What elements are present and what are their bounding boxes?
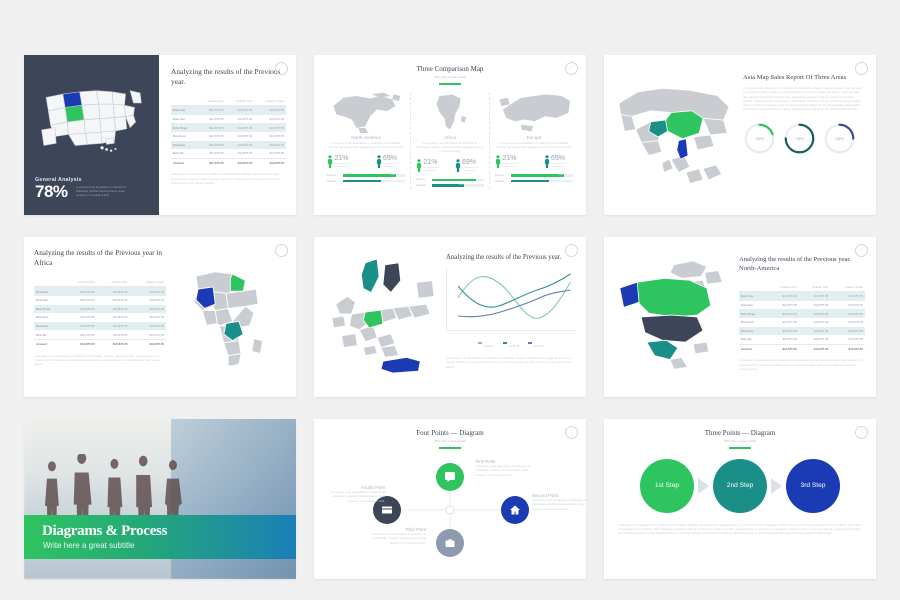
comparison-text: A company is an association or collectio… [327, 142, 405, 151]
table-row: Row One$10,875.55$10,875.55$10,875.55 [171, 106, 286, 115]
africa-map-panel [166, 249, 286, 385]
table-header-row: Column OneColumn TwoColumn Three [34, 277, 166, 287]
slide-5-europe-analysis[interactable]: Analyzing the results of the Previous ye… [314, 237, 586, 397]
point-caption-fourth: Fourth Point A company is an association… [327, 485, 385, 504]
comparison-bars: Result A85% Result B62% [495, 174, 573, 183]
asia-map-panel [612, 65, 737, 205]
slide-3-asia-sales-report[interactable]: Asia Map Sales Report Of Three Areas A c… [604, 55, 876, 215]
slide-4-content: Analyzing the results of the Previous ye… [34, 249, 166, 385]
comparison-columns: North-America A company is an associatio… [322, 92, 578, 190]
person-icon-teal [455, 159, 461, 172]
china-highlight [666, 111, 703, 139]
point-node-third[interactable] [436, 529, 464, 557]
slide-6-footnote: A company is an association or collectio… [739, 359, 865, 372]
table-cell: $10,875.55 [130, 322, 166, 331]
libya-highlight [230, 274, 245, 291]
slide-8-four-points-diagram[interactable]: Four Points — Diagram Write here a great… [314, 419, 586, 579]
slide-badge-icon[interactable]: ◌ [855, 426, 868, 439]
norway-highlight [361, 259, 379, 292]
table-total-cell: $10,875.55 [830, 344, 865, 353]
table-col-header: Column One [767, 282, 799, 292]
comparison-stats: 21% A company is an association of 69% A… [416, 159, 484, 173]
africa-map-icon [430, 91, 470, 133]
table-row-label: Row One [171, 106, 197, 115]
table-cell: $10,875.55 [767, 327, 799, 336]
slide-1-footnote: A company is an association or collectio… [171, 173, 286, 186]
stat-b: 69% A company is an association of [376, 155, 406, 169]
finland-highlight [383, 263, 401, 293]
comparison-stats: 21% A company is an association of 69% A… [495, 155, 573, 169]
table-cell: $10,875.55 [830, 335, 865, 344]
title-underline [439, 447, 461, 449]
table-total-cell: $10,875.55 [799, 344, 830, 353]
legend-swatch-b [503, 342, 507, 344]
bar-fill: 62% [432, 184, 464, 187]
table-total-cell: $10,875.55 [97, 339, 130, 348]
table-total-cell: $10,875.55 [254, 158, 286, 167]
line-chart-svg [447, 268, 576, 330]
slide-4-footnote: A company is an association or collectio… [34, 355, 166, 368]
table-row: Row Five$10,875.55$10,875.55$10,875.55 [739, 327, 865, 336]
stat-b-caption: A company is an association of [383, 163, 405, 169]
point-title: Fourth Point [327, 485, 385, 490]
bar-value: 85% [391, 174, 395, 176]
point-text: A company is an association or collectio… [476, 465, 534, 478]
comparison-column-africa[interactable]: Africa A company is an association or co… [410, 92, 489, 190]
point-caption-first: First Point A company is an association … [476, 459, 534, 478]
donut-chart-2: 75% [783, 122, 816, 155]
bar-row: Result A85% [495, 174, 573, 177]
table-col-corner [739, 282, 767, 292]
comparison-bars: Result A85% Result B62% [416, 178, 484, 187]
table-row-label: Row Five [739, 327, 767, 336]
table-row: Row Three$10,875.55$10,875.55$10,875.55 [739, 309, 865, 318]
series-c-line [458, 290, 570, 317]
usa-highlight [641, 315, 703, 342]
slide-8-title: Four Points — Diagram [322, 429, 578, 437]
table-cell: $10,875.55 [64, 296, 97, 305]
table-total-label: Amount [171, 158, 197, 167]
table-total-cell: $10,875.55 [130, 339, 166, 348]
point-text: A company is an association or collectio… [327, 491, 385, 504]
slide-7-title: Diagrams & Process [24, 515, 296, 540]
general-analysis-text: A company is an association or collectio… [76, 186, 134, 198]
table-cell: $10,875.55 [830, 327, 865, 336]
bar-track: 85% [343, 174, 405, 177]
slide-3-body: A company is an association or collectio… [743, 87, 864, 113]
europe-map [322, 253, 440, 381]
slide-4-title: Analyzing the results of the Previous ye… [34, 249, 166, 268]
table-cell: $10,875.55 [254, 123, 286, 132]
donut-value-3: 25% [823, 122, 856, 155]
table-cell: $10,875.55 [197, 132, 226, 141]
bar-value: 85% [559, 174, 563, 176]
bar-track: 85% [432, 179, 484, 182]
bar-track: 85% [511, 174, 573, 177]
results-table: Column OneColumn TwoColumn ThreeRow One$… [739, 282, 865, 353]
table-cell: $10,875.55 [830, 292, 865, 301]
bar-label: Result A [495, 174, 508, 177]
table-col-header: Column Three [830, 282, 865, 292]
legend-label-a: Series A [484, 345, 494, 348]
table-cell: $10,875.55 [254, 106, 286, 115]
slide-5-footnote: A company is an association or collectio… [446, 357, 576, 370]
legend-item-c: Series C [528, 334, 544, 352]
north-america-thumb-map [327, 92, 405, 132]
table-total-cell: $10,875.55 [197, 158, 226, 167]
table-col-header: Column Two [799, 282, 830, 292]
table-head: Column OneColumn TwoColumn Three [34, 277, 166, 287]
table-cell: $10,875.55 [254, 115, 286, 124]
stat-a: 21% A company is an association of [495, 155, 525, 169]
person-icon-green [416, 159, 422, 172]
table-col-header: Column Three [254, 96, 286, 106]
slide-3-title: Asia Map Sales Report Of Three Areas [743, 73, 864, 82]
stat-a: 21% A company is an association of [416, 159, 446, 173]
point-node-second[interactable] [501, 496, 529, 524]
table-cell: $10,875.55 [767, 309, 799, 318]
bar-row: Result B62% [327, 180, 405, 183]
myanmar-highlight [677, 139, 688, 160]
card-icon [381, 504, 393, 516]
bar-track: 62% [432, 184, 484, 187]
table-cell: $10,875.55 [767, 335, 799, 344]
table-cell: $10,875.55 [130, 296, 166, 305]
bar-fill: 62% [511, 180, 549, 183]
title-underline [439, 83, 461, 85]
table-row: Row One$10,875.55$10,875.55$10,875.55 [739, 292, 865, 301]
turkey-highlight [381, 357, 420, 373]
table-cell: $10,875.55 [226, 115, 255, 124]
table-row: Row Six$10,875.55$10,875.55$10,875.55 [739, 335, 865, 344]
bar-label: Result B [495, 180, 508, 183]
step-label-3: 3rd Step [801, 482, 826, 489]
person-icon-teal [376, 155, 382, 168]
table-row-label: Row Six [171, 149, 197, 158]
table-col-corner [171, 96, 197, 106]
germany-highlight [363, 310, 383, 328]
bar-row: Result A85% [416, 178, 484, 181]
table-col-corner [34, 277, 64, 287]
table-cell: $10,875.55 [254, 141, 286, 150]
table-row: Row Five$10,875.55$10,875.55$10,875.55 [171, 141, 286, 150]
comparison-bars: Result A85% Result B62% [327, 174, 405, 183]
stat-a-value: 21% [335, 155, 357, 163]
table-row: Row Two$10,875.55$10,875.55$10,875.55 [739, 301, 865, 310]
table-cell: $10,875.55 [254, 149, 286, 158]
table-cell: $10,875.55 [799, 301, 830, 310]
slide-6-content: Analyzing the results of the Previous ye… [735, 249, 867, 385]
table-total-label: Amount [34, 339, 64, 348]
person-icon-teal [544, 155, 550, 168]
table-cell: $10,875.55 [97, 287, 130, 296]
stat-b-value: 69% [551, 155, 573, 163]
table-cell: $10,875.55 [226, 106, 255, 115]
results-table: Column OneColumn TwoColumn ThreeRow One$… [34, 277, 166, 348]
bar-row: Result A85% [327, 174, 405, 177]
table-row: Row One$10,875.55$10,875.55$10,875.55 [34, 287, 166, 296]
table-row-label: Row Four [34, 313, 64, 322]
step-circle-1[interactable]: 1st Step [640, 459, 694, 513]
africa-map [183, 263, 269, 371]
slide-6-north-america-analysis[interactable]: Analyzing the results of the Previous ye… [604, 237, 876, 397]
table-cell: $10,875.55 [97, 305, 130, 314]
slide-2-title: Three Comparison Map [322, 65, 578, 73]
table-row: Row Six$10,875.55$10,875.55$10,875.55 [171, 149, 286, 158]
title-band: Diagrams & Process Write here a great su… [24, 515, 296, 559]
results-table: Column OneColumn TwoColumn ThreeRow One$… [171, 96, 286, 167]
table-total-row: Amount$10,875.55$10,875.55$10,875.55 [34, 339, 166, 348]
table-row: Row Three$10,875.55$10,875.55$10,875.55 [34, 305, 166, 314]
table-cell: $10,875.55 [197, 123, 226, 132]
table-row-label: Row Four [171, 132, 197, 141]
table-cell: $10,875.55 [64, 287, 97, 296]
slide-deck-grid: General Analysis 78% A company is an ass… [0, 0, 900, 600]
comparison-column-north-america[interactable]: North-America A company is an associatio… [322, 92, 410, 190]
slide-badge-icon[interactable]: ◌ [275, 244, 288, 257]
slide-badge-icon[interactable]: ◌ [565, 244, 578, 257]
africa-thumb-map [416, 92, 484, 132]
table-cell: $10,875.55 [799, 335, 830, 344]
table-body: Row One$10,875.55$10,875.55$10,875.55Row… [34, 287, 166, 349]
slide-7-diagrams-process-cover[interactable]: Diagrams & Process Write here a great su… [24, 419, 296, 579]
table-row-label: Row Six [739, 335, 767, 344]
mexico-highlight [647, 340, 678, 359]
slide-6-title: Analyzing the results of the Previous ye… [739, 255, 865, 273]
stat-b-caption: A company is an association of [462, 167, 484, 173]
comparison-text: A company is an association or collectio… [416, 142, 484, 155]
table-row-label: Row Three [34, 305, 64, 314]
table-cell: $10,875.55 [799, 318, 830, 327]
table-col-header: Column Three [130, 277, 166, 287]
briefcase-icon [444, 537, 456, 549]
slide-7-subtitle: Write here a great subtitle [43, 541, 296, 550]
table-col-header: Column One [197, 96, 226, 106]
table-row-label: Row One [739, 292, 767, 301]
chat-icon [444, 471, 456, 483]
table-total-row: Amount$10,875.55$10,875.55$10,875.55 [739, 344, 865, 353]
step-sequence: 1st Step 2nd Step 3rd Step [612, 459, 868, 513]
slide-badge-icon[interactable]: ◌ [855, 244, 868, 257]
bar-label: Result A [327, 174, 340, 177]
bar-fill: 62% [343, 180, 381, 183]
title-underline [729, 447, 751, 449]
table-row-label: Row Six [34, 330, 64, 339]
table-cell: $10,875.55 [64, 305, 97, 314]
stat-a-caption: A company is an association of [424, 167, 446, 173]
stat-a: 21% A company is an association of [327, 155, 357, 169]
table-body: Row One$10,875.55$10,875.55$10,875.55Row… [171, 106, 286, 168]
north-america-map-icon [327, 91, 405, 133]
slide-badge-icon[interactable]: ◌ [855, 62, 868, 75]
table-cell: $10,875.55 [130, 305, 166, 314]
slide-badge-icon[interactable]: ◌ [275, 62, 288, 75]
point-title: Third Point [368, 527, 426, 532]
asia-map [612, 79, 736, 191]
table-col-header: Column Two [226, 96, 255, 106]
table-body: Row One$10,875.55$10,875.55$10,875.55Row… [739, 292, 865, 354]
table-cell: $10,875.55 [254, 132, 286, 141]
europe-thumb-map [495, 92, 573, 132]
point-caption-third: Third Point A company is an association … [368, 527, 426, 546]
table-total-row: Amount$10,875.55$10,875.55$10,875.55 [171, 158, 286, 167]
four-points-diagram: First Point A company is an association … [322, 451, 578, 569]
bar-fill: 85% [432, 179, 476, 182]
bar-track: 62% [343, 180, 405, 183]
slide-badge-icon[interactable]: ◌ [565, 426, 578, 439]
slide-badge-icon[interactable]: ◌ [565, 62, 578, 75]
table-row-label: Row Five [34, 322, 64, 331]
general-analysis-value: 78% [35, 183, 68, 201]
comparison-name: North-America [327, 135, 405, 140]
table-cell: $10,875.55 [799, 327, 830, 336]
table-row-label: Row Three [739, 309, 767, 318]
line-chart [446, 268, 576, 331]
point-title: Second Point [532, 493, 586, 498]
table-cell: $10,875.55 [97, 322, 130, 331]
slide-9-subtitle: Write here a great subtitle [612, 439, 868, 443]
table-row-label: Row Two [171, 115, 197, 124]
table-row-label: Row Two [739, 301, 767, 310]
table-cell: $10,875.55 [197, 115, 226, 124]
stat-a-value: 21% [503, 155, 525, 163]
person-icon-green [327, 155, 333, 168]
bar-value: 85% [471, 178, 475, 180]
bar-value: 62% [544, 179, 548, 181]
table-cell: $10,875.55 [97, 313, 130, 322]
table-cell: $10,875.55 [830, 318, 865, 327]
table-col-header: Column Two [97, 277, 130, 287]
bar-value: 62% [376, 179, 380, 181]
bar-value: 62% [459, 184, 463, 186]
table-cell: $10,875.55 [97, 330, 130, 339]
comparison-name: Africa [416, 135, 484, 140]
slide-4-africa-analysis[interactable]: Analyzing the results of the Previous ye… [24, 237, 296, 397]
person-icon-green [495, 155, 501, 168]
table-row-label: Row Three [171, 123, 197, 132]
table-total-cell: $10,875.55 [767, 344, 799, 353]
table-cell: $10,875.55 [130, 330, 166, 339]
table-cell: $10,875.55 [197, 106, 226, 115]
slide-1-us-analysis[interactable]: General Analysis 78% A company is an ass… [24, 55, 296, 215]
bar-row: Result B62% [416, 184, 484, 187]
europe-map-icon [495, 91, 573, 133]
comparison-name: Europe [495, 135, 573, 140]
table-cell: $10,875.55 [767, 292, 799, 301]
slide-1-title: Analyzing the results of the Previous ye… [171, 67, 286, 87]
slide-5-content: Analyzing the results of the Previous ye… [442, 247, 578, 387]
table-cell: $10,875.55 [226, 123, 255, 132]
stat-b-caption: A company is an association of [551, 163, 573, 169]
table-total-cell: $10,875.55 [64, 339, 97, 348]
table-cell: $10,875.55 [830, 309, 865, 318]
table-cell: $10,875.55 [64, 313, 97, 322]
table-cell: $10,875.55 [799, 292, 830, 301]
step-circle-2[interactable]: 2nd Step [713, 459, 767, 513]
comparison-stats: 21% A company is an association of 69% A… [327, 155, 405, 169]
table-cell: $10,875.55 [197, 141, 226, 150]
comparison-text: A company is an association or collectio… [495, 142, 573, 151]
stat-b: 69% A company is an association of [544, 155, 574, 169]
bar-label: Result B [327, 180, 340, 183]
table-cell: $10,875.55 [767, 318, 799, 327]
table-head: Column OneColumn TwoColumn Three [739, 282, 865, 292]
point-node-first[interactable] [436, 463, 464, 491]
table-row: Row Four$10,875.55$10,875.55$10,875.55 [171, 132, 286, 141]
slide-5-title: Analyzing the results of the Previous ye… [446, 253, 576, 262]
step-circle-3[interactable]: 3rd Step [786, 459, 840, 513]
step-label-2: 2nd Step [727, 482, 753, 489]
table-cell: $10,875.55 [64, 322, 97, 331]
bar-fill: 85% [343, 174, 396, 177]
slide-3-content: Asia Map Sales Report Of Three Areas A c… [737, 65, 868, 205]
table-cell: $10,875.55 [130, 313, 166, 322]
table-cell: $10,875.55 [799, 309, 830, 318]
table-cell: $10,875.55 [130, 287, 166, 296]
diagram-hub [446, 505, 455, 514]
comparison-column-europe[interactable]: Europe A company is an association or co… [489, 92, 578, 190]
arrow-icon-1 [698, 478, 709, 494]
legend-label-b: Series B [509, 345, 519, 348]
table-row: Row Four$10,875.55$10,875.55$10,875.55 [34, 313, 166, 322]
series-a-line [458, 276, 570, 318]
point-title: First Point [476, 459, 534, 464]
point-text: A company is an association or collectio… [532, 499, 586, 512]
table-row-label: Row One [34, 287, 64, 296]
table-row: Row Five$10,875.55$10,875.55$10,875.55 [34, 322, 166, 331]
donut-group: 20% 75% 25% [743, 122, 864, 155]
europe-map-panel [322, 247, 442, 387]
bar-label: Result B [416, 184, 429, 187]
table-row: Row Three$10,875.55$10,875.55$10,875.55 [171, 123, 286, 132]
table-total-label: Amount [739, 344, 767, 353]
slide-2-three-comparison-map[interactable]: Three Comparison Map Write here a great … [314, 55, 586, 215]
us-map-panel: General Analysis 78% A company is an ass… [24, 55, 159, 215]
slide-2-subtitle: Write here a great subtitle [322, 75, 578, 79]
table-row-label: Row Two [34, 296, 64, 305]
table-cell: $10,875.55 [226, 132, 255, 141]
north-america-map [613, 259, 731, 375]
table-total-cell: $10,875.55 [226, 158, 255, 167]
table-row-label: Row Four [739, 318, 767, 327]
table-cell: $10,875.55 [197, 149, 226, 158]
bar-fill: 85% [511, 174, 564, 177]
legend-swatch-a [478, 342, 482, 344]
stat-b: 69% A company is an association of [455, 159, 485, 173]
donut-value-1: 20% [743, 122, 776, 155]
legend-item-a: Series A [478, 334, 494, 352]
table-row: Row Two$10,875.55$10,875.55$10,875.55 [34, 296, 166, 305]
table-cell: $10,875.55 [830, 301, 865, 310]
table-col-header: Column One [64, 277, 97, 287]
step-label-1: 1st Step [655, 482, 679, 489]
donut-value-2: 75% [783, 122, 816, 155]
united-states-map [36, 77, 148, 157]
slide-8-subtitle: Write here a great subtitle [322, 439, 578, 443]
table-header-row: Column OneColumn TwoColumn Three [171, 96, 286, 106]
table-cell: $10,875.55 [767, 301, 799, 310]
bar-track: 62% [511, 180, 573, 183]
table-row-label: Row Five [171, 141, 197, 150]
table-cell: $10,875.55 [226, 149, 255, 158]
legend-label-c: Series C [534, 345, 544, 348]
table-row: Row Six$10,875.55$10,875.55$10,875.55 [34, 330, 166, 339]
table-cell: $10,875.55 [64, 330, 97, 339]
table-head: Column OneColumn TwoColumn Three [171, 96, 286, 106]
home-icon [509, 504, 521, 516]
arrow-icon-2 [771, 478, 782, 494]
slide-9-three-points-diagram[interactable]: Three Points — Diagram Write here a grea… [604, 419, 876, 579]
